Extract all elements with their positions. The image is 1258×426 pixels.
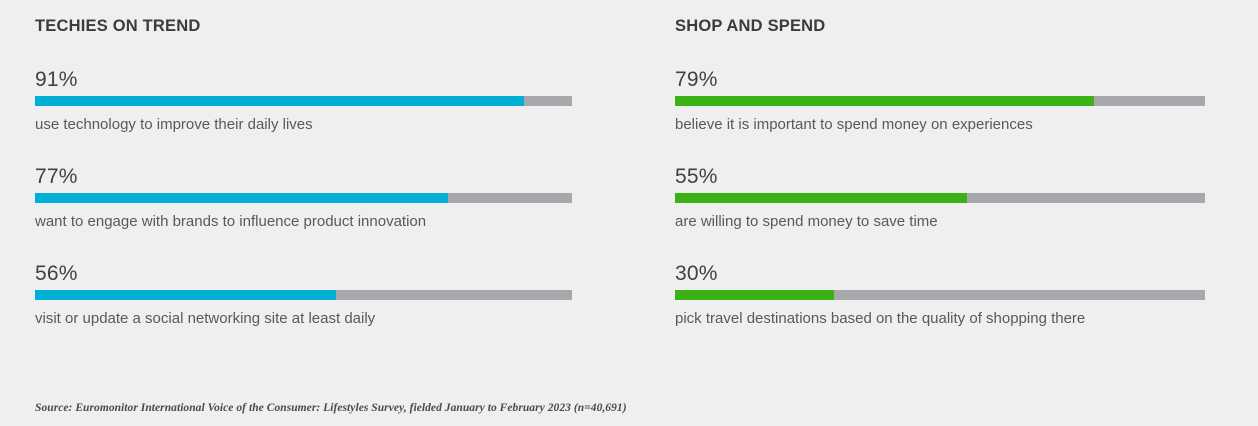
bar-fill — [675, 290, 834, 300]
bar-track — [35, 193, 572, 203]
stat-value: 79% — [675, 67, 1258, 92]
stat-value: 77% — [35, 164, 629, 189]
stat-item: 56% visit or update a social networking … — [35, 261, 629, 331]
stat-value: 55% — [675, 164, 1258, 189]
bar-track — [35, 96, 572, 106]
stat-item: 30% pick travel destinations based on th… — [675, 261, 1258, 331]
bar-fill — [35, 96, 524, 106]
bar-track — [675, 290, 1205, 300]
infographic-canvas: TECHIES ON TREND 91% use technology to i… — [0, 0, 1258, 426]
stat-item: 55% are willing to spend money to save t… — [675, 164, 1258, 234]
stat-label: believe it is important to spend money o… — [675, 112, 1185, 137]
stat-label: are willing to spend money to save time — [675, 209, 1185, 234]
stat-value: 56% — [35, 261, 629, 286]
column-title-techies-on-trend: TECHIES ON TREND — [35, 16, 629, 36]
column-shop-and-spend: SHOP AND SPEND 79% believe it is importa… — [629, 16, 1258, 331]
stat-item: 77% want to engage with brands to influe… — [35, 164, 629, 234]
bar-fill — [675, 193, 967, 203]
stats-columns: TECHIES ON TREND 91% use technology to i… — [0, 0, 1258, 331]
stat-label: want to engage with brands to influence … — [35, 209, 555, 234]
stat-item: 91% use technology to improve their dail… — [35, 67, 629, 137]
column-title-shop-and-spend: SHOP AND SPEND — [675, 16, 1258, 36]
bar-track — [675, 193, 1205, 203]
stat-label: use technology to improve their daily li… — [35, 112, 555, 137]
stat-label: visit or update a social networking site… — [35, 306, 555, 331]
source-note: Source: Euromonitor International Voice … — [35, 402, 627, 414]
bar-track — [675, 96, 1205, 106]
stat-item: 79% believe it is important to spend mon… — [675, 67, 1258, 137]
bar-fill — [675, 96, 1094, 106]
stat-value: 91% — [35, 67, 629, 92]
bar-fill — [35, 193, 448, 203]
stat-label: pick travel destinations based on the qu… — [675, 306, 1185, 331]
bar-track — [35, 290, 572, 300]
column-techies-on-trend: TECHIES ON TREND 91% use technology to i… — [0, 16, 629, 331]
stat-value: 30% — [675, 261, 1258, 286]
bar-fill — [35, 290, 336, 300]
